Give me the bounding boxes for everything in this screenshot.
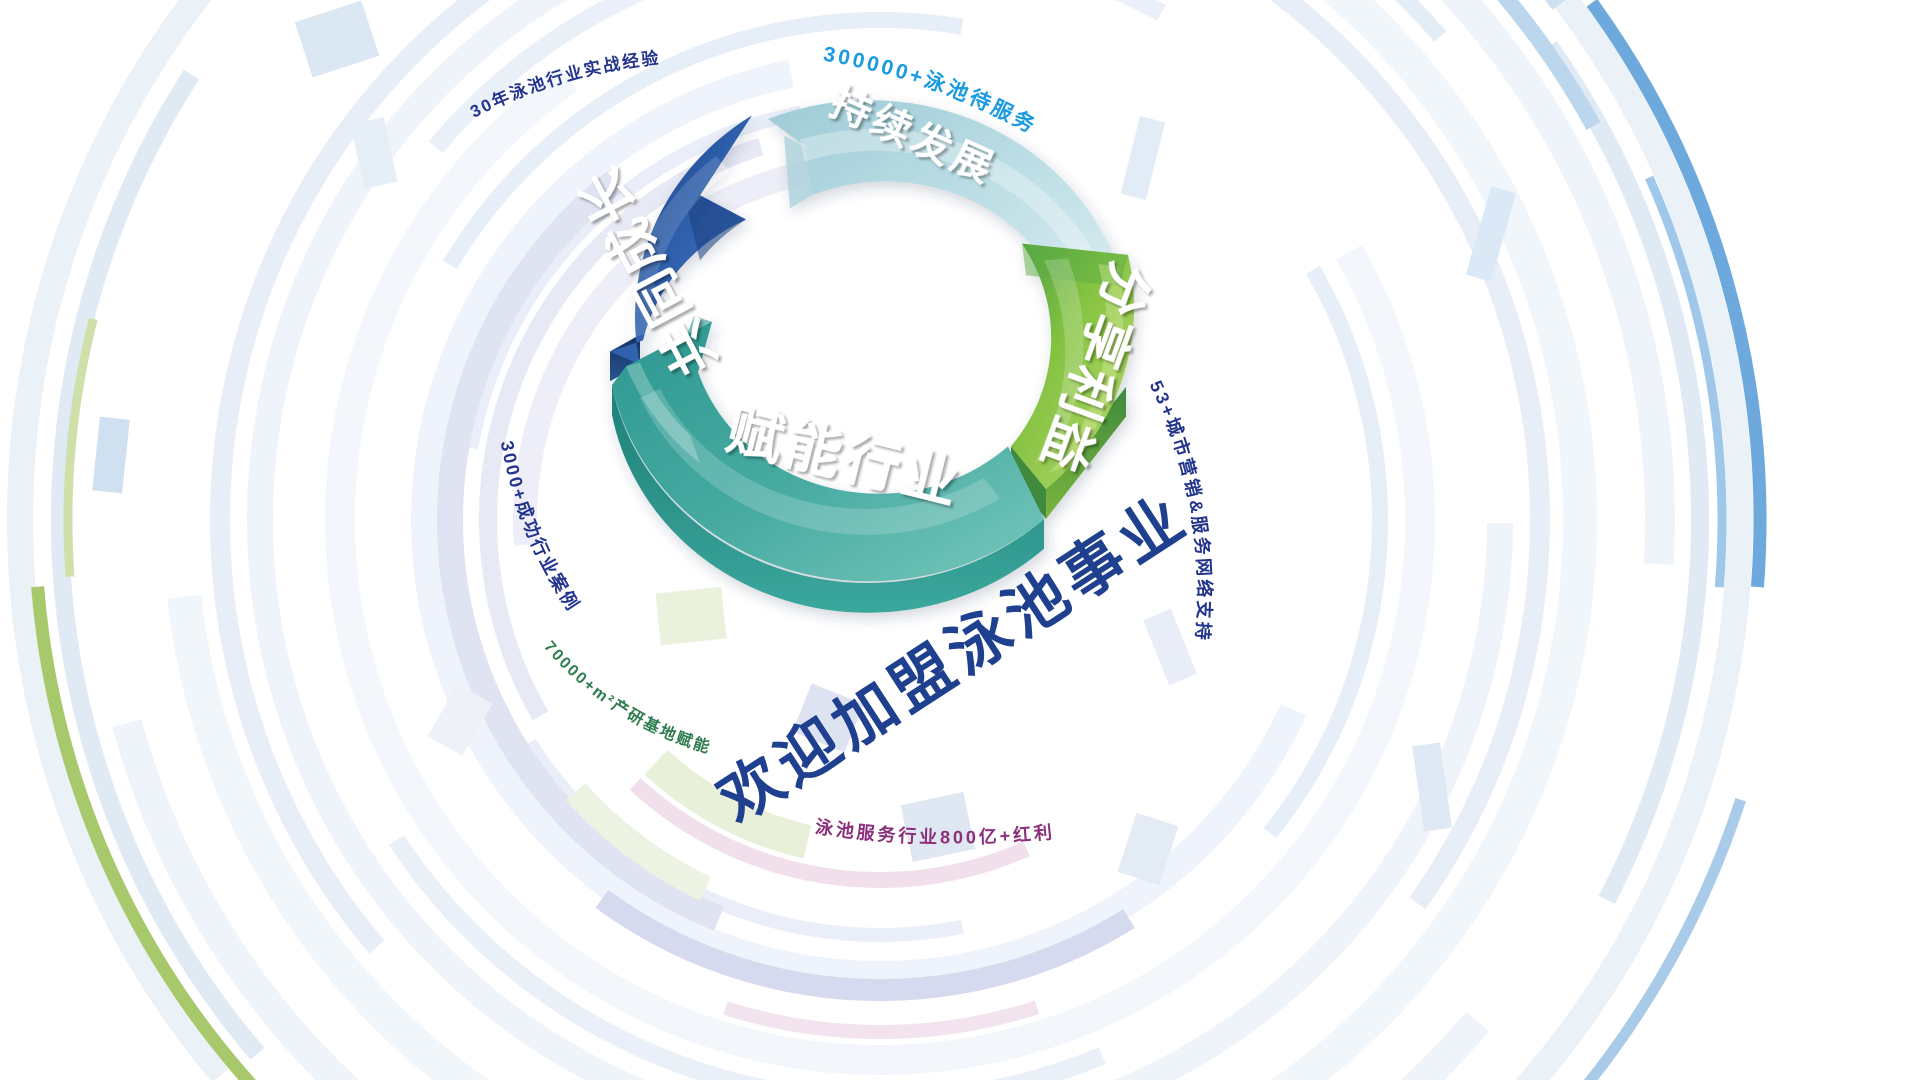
arc-label-base: 70000+m²产研基地赋能 bbox=[540, 638, 714, 757]
infographic-canvas: 共同成长 持续发展 分享利益 赋能行业 30年泳池行业实战经验 300000+泳… bbox=[0, 0, 1920, 1080]
infographic-svg: 共同成长 持续发展 分享利益 赋能行业 30年泳池行业实战经验 300000+泳… bbox=[0, 0, 1920, 1080]
